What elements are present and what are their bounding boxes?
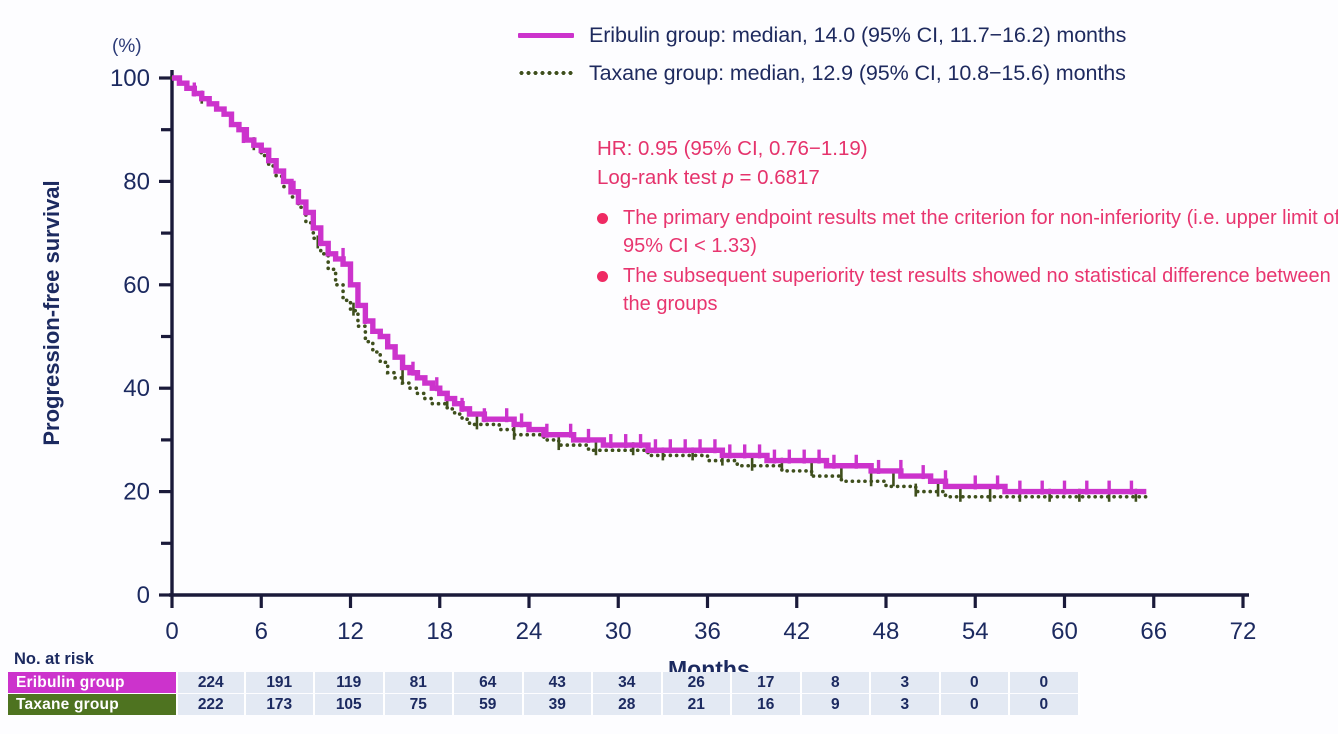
risk-cell: 16 <box>732 694 802 715</box>
svg-text:6: 6 <box>255 618 268 645</box>
bullet-dot-icon <box>597 262 623 282</box>
svg-text:30: 30 <box>605 618 632 645</box>
svg-text:0: 0 <box>165 618 178 645</box>
logrank-prefix: Log-rank test <box>597 166 722 189</box>
number-at-risk-table: No. at risk Eribulin group Taxane group … <box>0 650 1338 715</box>
risk-cell: 222 <box>176 694 246 715</box>
risk-cell: 105 <box>315 694 385 715</box>
svg-text:24: 24 <box>516 618 543 645</box>
risk-table-title: No. at risk <box>14 650 1338 672</box>
risk-row-labels: Eribulin group Taxane group <box>8 672 176 715</box>
legend-item-taxane: Taxane group: median, 12.9 (95% CI, 10.8… <box>515 54 1275 92</box>
svg-text:48: 48 <box>873 618 900 645</box>
bullet-item: The primary endpoint results met the cri… <box>597 204 1338 260</box>
risk-cell: 21 <box>663 694 733 715</box>
risk-cell: 43 <box>524 672 594 693</box>
svg-text:80: 80 <box>123 168 150 195</box>
legend-item-eribulin: Eribulin group: median, 14.0 (95% CI, 11… <box>515 16 1275 54</box>
km-plot: 020406080100061218243036424854606672 <box>0 0 1338 734</box>
dotted-line-swatch <box>515 71 577 75</box>
risk-cell: 8 <box>802 672 872 693</box>
svg-text:60: 60 <box>1051 618 1078 645</box>
risk-value-grid: 2241911198164433426178300 22217310575593… <box>176 672 1338 715</box>
y-axis-title: Progression-free survival <box>39 113 65 513</box>
bullet-item: The subsequent superiority test results … <box>597 262 1338 318</box>
statistics-annotation: HR: 0.95 (95% CI, 0.76−1.19) Log-rank te… <box>597 134 1338 320</box>
risk-cell: 0 <box>941 672 1011 693</box>
table-row: 2221731057559392821169300 <box>176 694 1338 715</box>
solid-line-swatch <box>515 33 577 38</box>
svg-text:20: 20 <box>123 479 150 506</box>
risk-cell: 173 <box>246 694 316 715</box>
svg-text:60: 60 <box>123 272 150 299</box>
chart-legend: Eribulin group: median, 14.0 (95% CI, 11… <box>515 16 1275 92</box>
bullet-dot-icon <box>597 204 623 224</box>
risk-cell: 3 <box>871 694 941 715</box>
risk-cell: 81 <box>385 672 455 693</box>
risk-cell: 119 <box>315 672 385 693</box>
risk-cell: 59 <box>454 694 524 715</box>
risk-label-eribulin: Eribulin group <box>8 672 176 693</box>
risk-cell: 224 <box>176 672 246 693</box>
y-axis-unit: (%) <box>112 36 142 58</box>
risk-cell: 75 <box>385 694 455 715</box>
svg-text:12: 12 <box>337 618 364 645</box>
svg-text:18: 18 <box>426 618 453 645</box>
risk-cell: 17 <box>732 672 802 693</box>
svg-text:72: 72 <box>1230 618 1257 645</box>
risk-cell: 9 <box>802 694 872 715</box>
risk-cell: 34 <box>593 672 663 693</box>
table-row: 2241911198164433426178300 <box>176 672 1338 693</box>
svg-text:40: 40 <box>123 375 150 402</box>
svg-text:0: 0 <box>137 582 150 609</box>
risk-cell: 0 <box>941 694 1011 715</box>
risk-cell: 191 <box>246 672 316 693</box>
svg-text:42: 42 <box>783 618 810 645</box>
risk-cell: 0 <box>1010 694 1080 715</box>
logrank-suffix: = 0.6817 <box>734 166 820 189</box>
svg-text:100: 100 <box>110 65 150 92</box>
logrank-p-symbol: p <box>722 166 733 189</box>
legend-label-taxane: Taxane group: median, 12.9 (95% CI, 10.8… <box>577 61 1126 86</box>
svg-text:66: 66 <box>1140 618 1167 645</box>
risk-cell: 28 <box>593 694 663 715</box>
bullet-text: The primary endpoint results met the cri… <box>623 204 1338 260</box>
svg-text:54: 54 <box>962 618 989 645</box>
hazard-ratio-line: HR: 0.95 (95% CI, 0.76−1.19) <box>597 134 1338 163</box>
risk-label-taxane: Taxane group <box>8 694 176 715</box>
risk-cell: 64 <box>454 672 524 693</box>
risk-cell: 3 <box>871 672 941 693</box>
logrank-line: Log-rank test p = 0.6817 <box>597 163 1338 192</box>
svg-text:36: 36 <box>694 618 721 645</box>
risk-cell: 39 <box>524 694 594 715</box>
risk-cell: 0 <box>1010 672 1080 693</box>
risk-cell: 26 <box>663 672 733 693</box>
legend-label-eribulin: Eribulin group: median, 14.0 (95% CI, 11… <box>577 23 1126 48</box>
bullet-text: The subsequent superiority test results … <box>623 262 1338 318</box>
conclusion-bullets: The primary endpoint results met the cri… <box>597 204 1338 318</box>
